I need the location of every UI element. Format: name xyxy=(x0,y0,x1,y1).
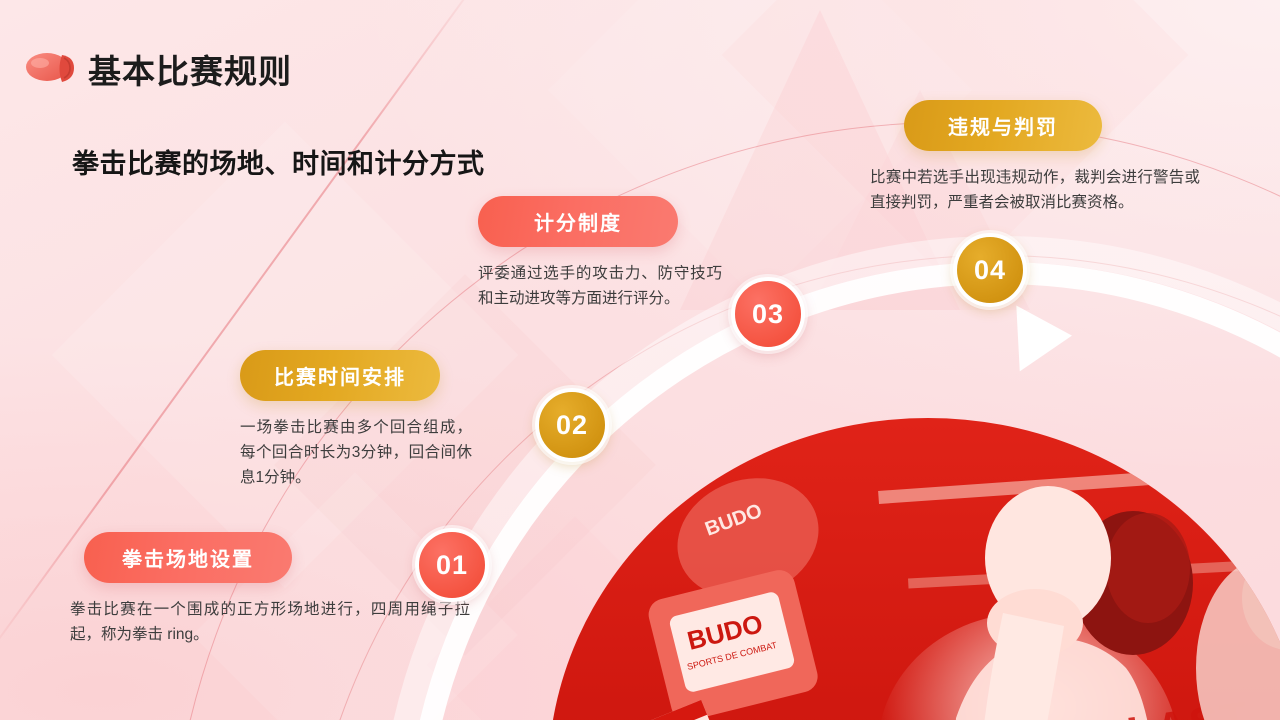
step-badge-04[interactable]: 04 xyxy=(953,233,1027,307)
step-title-03[interactable]: 计分制度 xyxy=(478,196,678,247)
page-title: 基本比赛规则 xyxy=(88,45,292,93)
step-title-01[interactable]: 拳击场地设置 xyxy=(84,532,292,583)
step-desc-04: 比赛中若选手出现违规动作，裁判会进行警告或直接判罚，严重者会被取消比赛资格。 xyxy=(870,165,1200,215)
step-desc-01: 拳击比赛在一个围成的正方形场地进行，四周用绳子拉起，称为拳击 ring。 xyxy=(70,597,470,647)
page-title-row: 基本比赛规则 xyxy=(24,45,292,93)
step-badge-02[interactable]: 02 xyxy=(535,388,609,462)
step-badge-01[interactable]: 01 xyxy=(415,528,489,602)
step-desc-03: 评委通过选手的攻击力、防守技巧和主动进攻等方面进行评分。 xyxy=(478,261,722,311)
step-badge-03[interactable]: 03 xyxy=(731,277,805,351)
progress-arrow-icon xyxy=(1016,303,1073,372)
boxing-glove-icon xyxy=(24,48,76,90)
step-title-04[interactable]: 违规与判罚 xyxy=(904,100,1102,151)
step-title-02[interactable]: 比赛时间安排 xyxy=(240,350,440,401)
step-block-04[interactable]: 违规与判罚 比赛中若选手出现违规动作，裁判会进行警告或直接判罚，严重者会被取消比… xyxy=(870,100,1210,215)
boxing-match-photo: EVERLAST NEW YORK SINCE 1910 BUDO BUDO S… xyxy=(548,418,1280,720)
slide-canvas: EVERLAST NEW YORK SINCE 1910 BUDO BUDO S… xyxy=(0,0,1280,720)
step-block-03[interactable]: 计分制度 评委通过选手的攻击力、防守技巧和主动进攻等方面进行评分。 xyxy=(478,196,738,311)
page-subtitle: 拳击比赛的场地、时间和计分方式 xyxy=(72,146,492,183)
step-block-02[interactable]: 比赛时间安排 一场拳击比赛由多个回合组成，每个回合时长为3分钟，回合间休息1分钟… xyxy=(240,350,500,490)
step-desc-02: 一场拳击比赛由多个回合组成，每个回合时长为3分钟，回合间休息1分钟。 xyxy=(240,415,472,490)
